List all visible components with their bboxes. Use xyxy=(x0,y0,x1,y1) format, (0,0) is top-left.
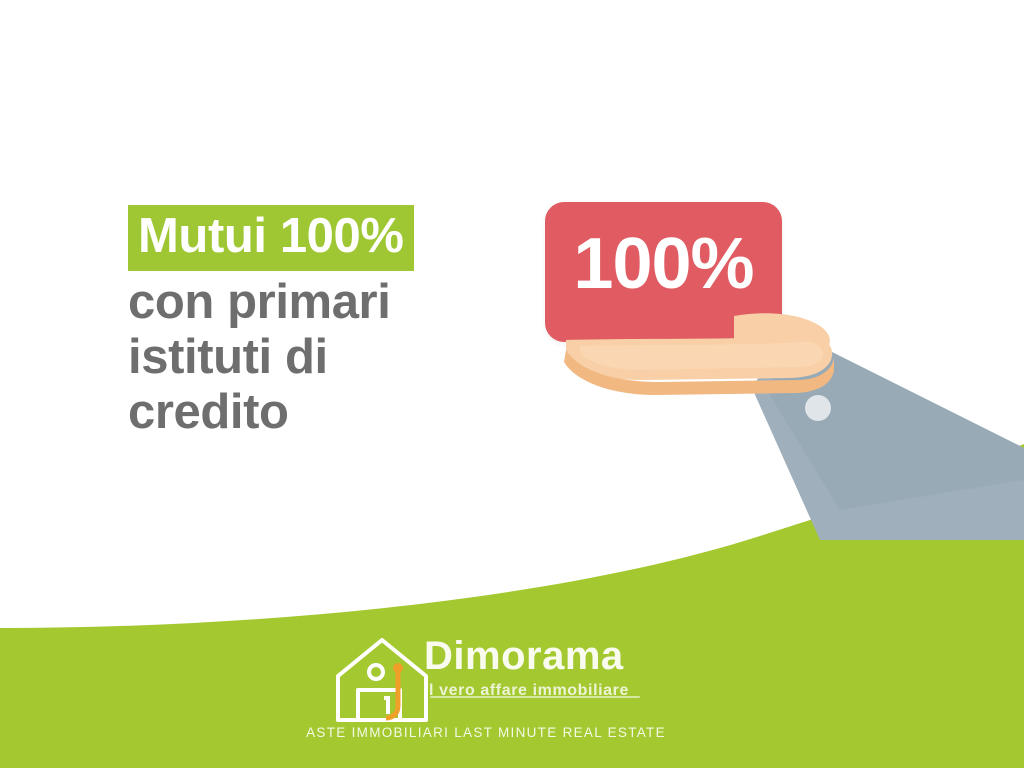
headline-highlight: Mutui 100% xyxy=(128,205,414,271)
headline-block: Mutui 100% con primari istituti di credi… xyxy=(128,205,528,439)
headline-body: con primari istituti di credito xyxy=(128,275,528,440)
hand-with-card-illustration: 100% xyxy=(520,180,1024,540)
open-hand-icon xyxy=(520,180,1024,540)
promo-banner: Mutui 100% con primari istituti di credi… xyxy=(0,0,1024,768)
logo-divider xyxy=(430,696,640,698)
headline-line-2: con primari xyxy=(128,275,528,330)
logo-wordmark: Dimorama Il vero affare immobiliare xyxy=(424,636,672,699)
headline-line-3: istituti di xyxy=(128,330,528,385)
dimorama-logo[interactable]: Dimorama Il vero affare immobiliare ASTE… xyxy=(296,628,676,756)
house-outline-icon xyxy=(328,632,436,728)
headline-line-4: credito xyxy=(128,385,528,440)
logo-name: Dimorama xyxy=(424,636,672,676)
logo-footer-text: ASTE IMMOBILIARI LAST MINUTE REAL ESTATE xyxy=(296,726,676,740)
headline-highlight-wrap: Mutui 100% xyxy=(128,205,528,271)
